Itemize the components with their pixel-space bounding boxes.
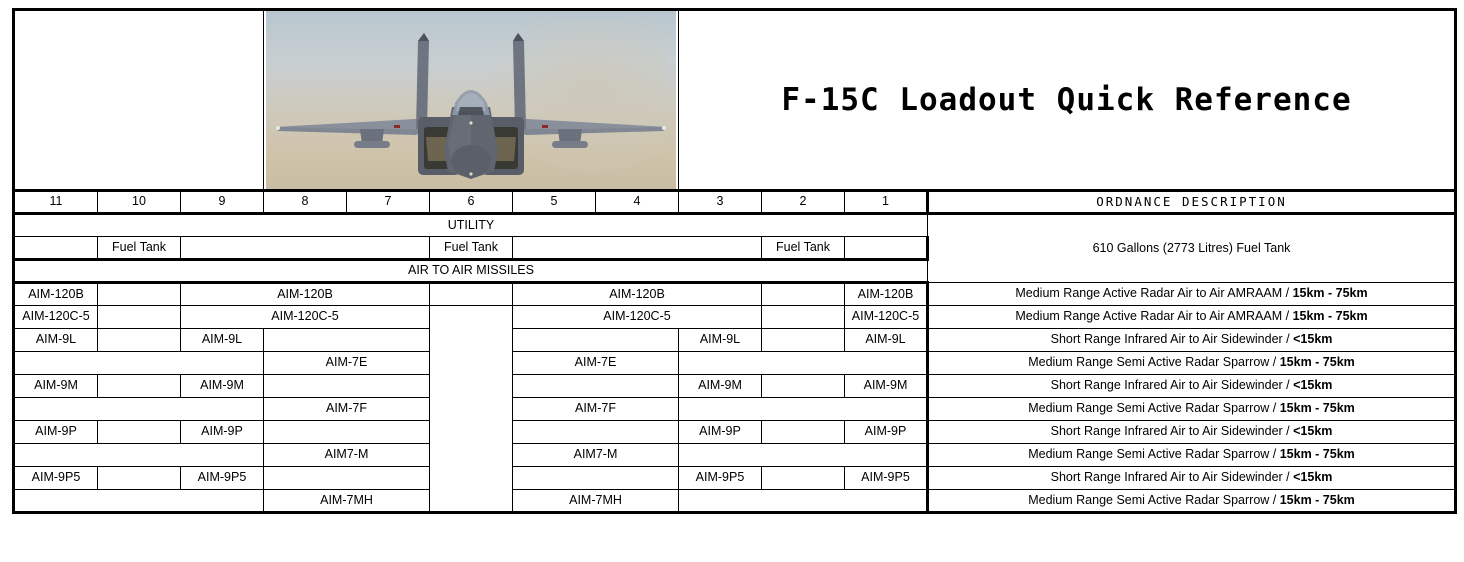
cell-station-11-9 <box>14 444 264 467</box>
cell-station-11 <box>14 237 98 260</box>
cell-station-5-4 <box>513 467 679 490</box>
cell-station-2 <box>762 329 845 352</box>
table-row: AIM-9P AIM-9P AIM-9P AIM-9P Short Range … <box>14 421 1456 444</box>
ordnance-description: Short Range Infrared Air to Air Sidewind… <box>928 467 1456 490</box>
cell-station-2 <box>762 421 845 444</box>
cell-station-8-7: AIM7-M <box>264 444 430 467</box>
ordnance-description: Medium Range Semi Active Radar Sparrow /… <box>928 490 1456 513</box>
cell-station-10 <box>98 375 181 398</box>
station-header-10: 10 <box>98 191 181 214</box>
cell-station-9: AIM-9P <box>181 421 264 444</box>
cell-station-11: AIM-120C-5 <box>14 306 98 329</box>
banner-blank-area <box>14 10 264 191</box>
station-header-9: 9 <box>181 191 264 214</box>
banner-row: F-15C Loadout Quick Reference <box>14 10 1456 191</box>
cell-station-10 <box>98 329 181 352</box>
cell-station-1 <box>845 237 928 260</box>
station-header-8: 8 <box>264 191 347 214</box>
cell-station-5-4 <box>513 421 679 444</box>
cell-station-3-1 <box>679 398 928 421</box>
cell-station-8-7 <box>264 467 430 490</box>
ordnance-description: Medium Range Semi Active Radar Sparrow /… <box>928 444 1456 467</box>
table-row: AIM-7F AIM-7F Medium Range Semi Active R… <box>14 398 1456 421</box>
cell-station-5-3: AIM-120C-5 <box>513 306 762 329</box>
fuel-tank-description: 610 Gallons (2773 Litres) Fuel Tank <box>928 214 1456 283</box>
cell-station-1: AIM-9L <box>845 329 928 352</box>
cell-station-5-3 <box>513 237 762 260</box>
station-header-11: 11 <box>14 191 98 214</box>
cell-station-2: Fuel Tank <box>762 237 845 260</box>
cell-station-11: AIM-9L <box>14 329 98 352</box>
ordnance-description: Medium Range Active Radar Air to Air AMR… <box>928 306 1456 329</box>
cell-station-1: AIM-120B <box>845 283 928 306</box>
table-row: AIM-120B AIM-120B AIM-120B AIM-120B Medi… <box>14 283 1456 306</box>
cell-station-10 <box>98 421 181 444</box>
cell-station-5-3: AIM-120B <box>513 283 762 306</box>
cell-station-9: AIM-9P5 <box>181 467 264 490</box>
cell-station-3: AIM-9L <box>679 329 762 352</box>
cell-station-2 <box>762 306 845 329</box>
station-header-row: 11 10 9 8 7 6 5 4 3 2 1 ORDNANCE DESCRIP… <box>14 191 1456 214</box>
ordnance-description: Medium Range Semi Active Radar Sparrow /… <box>928 398 1456 421</box>
cell-station-11: AIM-9M <box>14 375 98 398</box>
table-row: AIM-9M AIM-9M AIM-9M AIM-9M Short Range … <box>14 375 1456 398</box>
aircraft-photo <box>264 10 679 191</box>
cell-station-2 <box>762 467 845 490</box>
ordnance-description: Short Range Infrared Air to Air Sidewind… <box>928 421 1456 444</box>
cell-station-11-9 <box>14 352 264 375</box>
cell-station-11: AIM-9P <box>14 421 98 444</box>
ordnance-description: Medium Range Semi Active Radar Sparrow /… <box>928 352 1456 375</box>
cell-station-5-4 <box>513 329 679 352</box>
cell-station-9: AIM-9L <box>181 329 264 352</box>
cell-station-8-7: AIM-7F <box>264 398 430 421</box>
table-row: AIM-7MH AIM-7MH Medium Range Semi Active… <box>14 490 1456 513</box>
page-title-cell: F-15C Loadout Quick Reference <box>679 10 1456 191</box>
cell-station-8-7 <box>264 421 430 444</box>
ordnance-description: Short Range Infrared Air to Air Sidewind… <box>928 329 1456 352</box>
f15c-front-view-icon <box>266 11 676 189</box>
station-header-5: 5 <box>513 191 596 214</box>
loadout-table: F-15C Loadout Quick Reference 11 10 9 8 … <box>12 8 1457 514</box>
cell-station-2 <box>762 283 845 306</box>
cell-station-11: AIM-9P5 <box>14 467 98 490</box>
cell-station-5-4: AIM-7MH <box>513 490 679 513</box>
cell-station-1: AIM-9P5 <box>845 467 928 490</box>
cell-station-8-7: AIM-7E <box>264 352 430 375</box>
cell-station-9-7: AIM-120C-5 <box>181 306 430 329</box>
cell-station-10 <box>98 467 181 490</box>
cell-station-1: AIM-9P <box>845 421 928 444</box>
cell-station-8-7 <box>264 329 430 352</box>
cell-station-1: AIM-9M <box>845 375 928 398</box>
cell-station-5-4: AIM-7F <box>513 398 679 421</box>
cell-station-9: AIM-9M <box>181 375 264 398</box>
station-header-4: 4 <box>596 191 679 214</box>
ordnance-description: Short Range Infrared Air to Air Sidewind… <box>928 375 1456 398</box>
cell-station-1: AIM-120C-5 <box>845 306 928 329</box>
cell-station-3-1 <box>679 490 928 513</box>
table-row: AIM-7E AIM-7E Medium Range Semi Active R… <box>14 352 1456 375</box>
table-row: AIM7-M AIM7-M Medium Range Semi Active R… <box>14 444 1456 467</box>
table-row: AIM-9P5 AIM-9P5 AIM-9P5 AIM-9P5 Short Ra… <box>14 467 1456 490</box>
cell-station-6-blank <box>430 306 513 513</box>
cell-station-5-4: AIM7-M <box>513 444 679 467</box>
cell-station-5-4: AIM-7E <box>513 352 679 375</box>
cell-station-2 <box>762 375 845 398</box>
cell-station-9-7: AIM-120B <box>181 283 430 306</box>
cell-station-3: AIM-9P <box>679 421 762 444</box>
cell-station-10 <box>98 283 181 306</box>
utility-section-row: UTILITY 610 Gallons (2773 Litres) Fuel T… <box>14 214 1456 237</box>
table-row: AIM-9L AIM-9L AIM-9L AIM-9L Short Range … <box>14 329 1456 352</box>
cell-station-3-1 <box>679 352 928 375</box>
cell-station-3: AIM-9P5 <box>679 467 762 490</box>
cell-station-10 <box>98 306 181 329</box>
cell-station-3: AIM-9M <box>679 375 762 398</box>
station-header-7: 7 <box>347 191 430 214</box>
section-title-utility: UTILITY <box>14 214 928 237</box>
station-header-1: 1 <box>845 191 928 214</box>
section-title-air-to-air-missiles: AIR TO AIR MISSILES <box>14 260 928 283</box>
table-row: AIM-120C-5 AIM-120C-5 AIM-120C-5 AIM-120… <box>14 306 1456 329</box>
ordnance-description: Medium Range Active Radar Air to Air AMR… <box>928 283 1456 306</box>
station-header-2: 2 <box>762 191 845 214</box>
loadout-reference-sheet: F-15C Loadout Quick Reference 11 10 9 8 … <box>0 8 1464 562</box>
cell-station-8-7 <box>264 375 430 398</box>
station-header-6: 6 <box>430 191 513 214</box>
cell-station-11-9 <box>14 490 264 513</box>
cell-station-5-4 <box>513 375 679 398</box>
cell-station-3-1 <box>679 444 928 467</box>
station-header-3: 3 <box>679 191 762 214</box>
cell-station-11-9 <box>14 398 264 421</box>
cell-station-11: AIM-120B <box>14 283 98 306</box>
cell-station-9-7 <box>181 237 430 260</box>
cell-station-6: Fuel Tank <box>430 237 513 260</box>
page-title: F-15C Loadout Quick Reference <box>681 83 1452 117</box>
ordnance-description-header: ORDNANCE DESCRIPTION <box>928 191 1456 214</box>
cell-station-6 <box>430 283 513 306</box>
cell-station-10: Fuel Tank <box>98 237 181 260</box>
cell-station-8-7: AIM-7MH <box>264 490 430 513</box>
